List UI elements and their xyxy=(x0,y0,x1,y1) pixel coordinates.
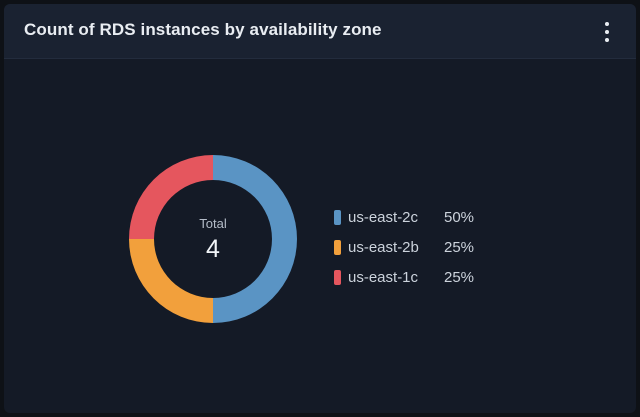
legend-swatch-us-east-2b xyxy=(334,240,341,255)
panel-header: Count of RDS instances by availability z… xyxy=(4,4,636,59)
panel-title: Count of RDS instances by availability z… xyxy=(24,20,382,40)
donut-slice-us-east-2b[interactable] xyxy=(129,239,213,323)
legend-swatch-us-east-2c xyxy=(334,210,341,225)
legend-percent: 25% xyxy=(444,269,474,286)
chart-legend: us-east-2c50%us-east-2b25%us-east-1c25% xyxy=(334,202,474,292)
legend-label: us-east-1c xyxy=(348,269,444,286)
legend-item-us-east-2c[interactable]: us-east-2c50% xyxy=(334,202,474,232)
chart-panel: Count of RDS instances by availability z… xyxy=(4,4,636,413)
kebab-dot-3 xyxy=(605,38,609,42)
donut-chart: Total 4 xyxy=(127,153,299,325)
legend-percent: 50% xyxy=(444,209,474,226)
donut-slices xyxy=(129,155,297,323)
donut-chart-svg xyxy=(127,153,299,325)
legend-item-us-east-1c[interactable]: us-east-1c25% xyxy=(334,262,474,292)
panel-body: Total 4 us-east-2c50%us-east-2b25%us-eas… xyxy=(4,60,636,413)
donut-slice-us-east-2c[interactable] xyxy=(213,155,297,323)
donut-slice-us-east-1c[interactable] xyxy=(129,155,213,239)
legend-label: us-east-2b xyxy=(348,239,444,256)
legend-percent: 25% xyxy=(444,239,474,256)
legend-item-us-east-2b[interactable]: us-east-2b25% xyxy=(334,232,474,262)
kebab-dot-1 xyxy=(605,22,609,26)
kebab-dot-2 xyxy=(605,30,609,34)
legend-label: us-east-2c xyxy=(348,209,444,226)
kebab-menu-icon[interactable] xyxy=(594,18,620,46)
legend-swatch-us-east-1c xyxy=(334,270,341,285)
